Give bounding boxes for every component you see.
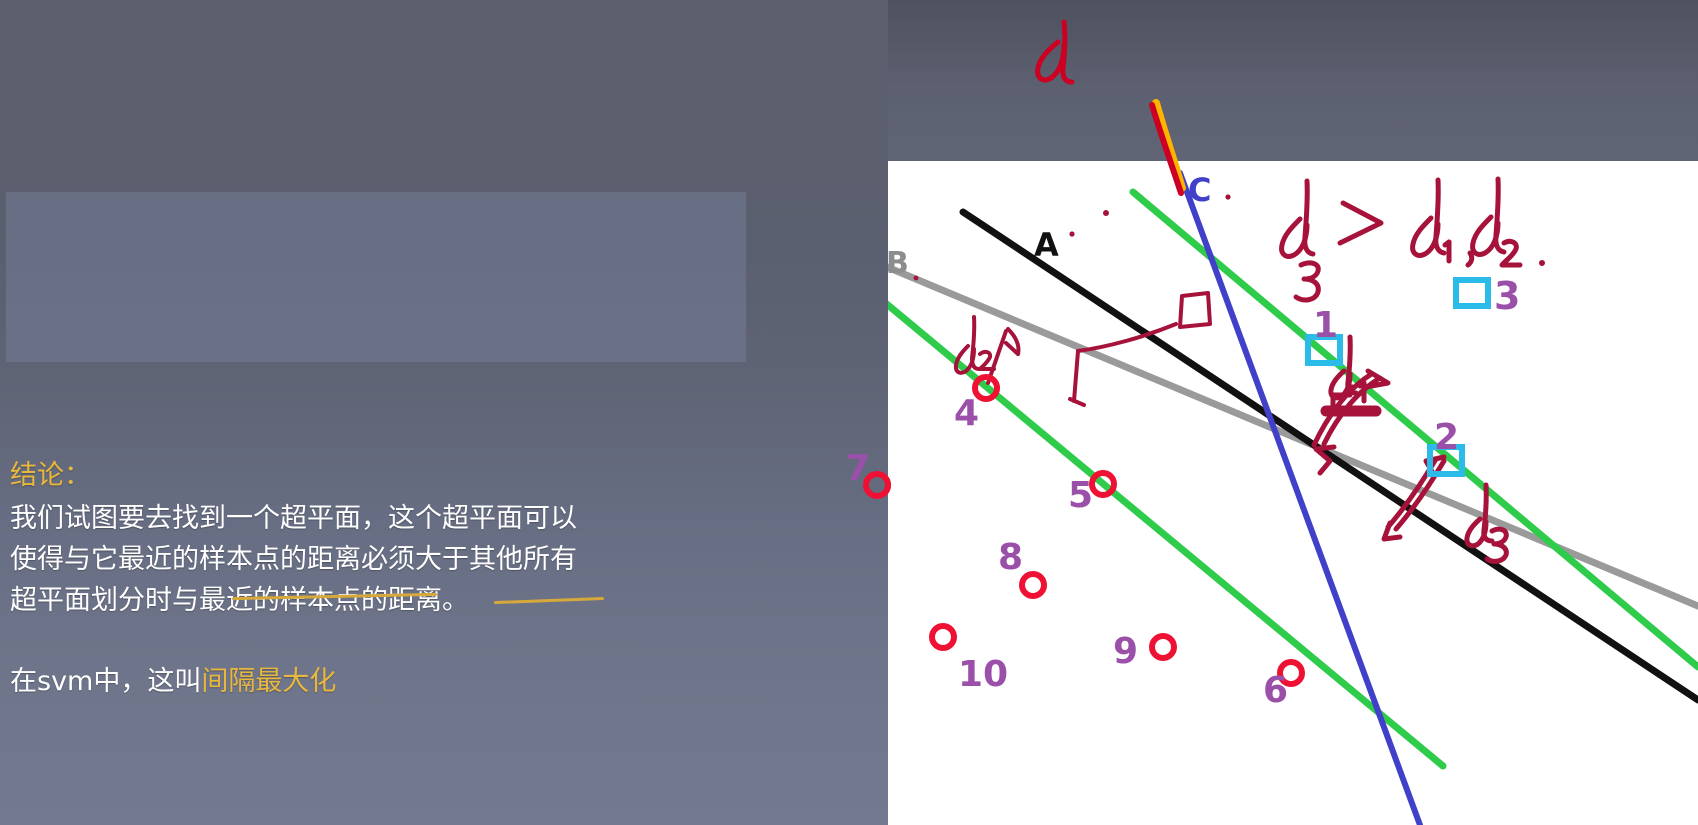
body-line-1: 我们试图要去找到一个超平面，这个超平面可以 <box>10 498 800 539</box>
underline-group: 我们试图要去找到一个超平面，这个超平面可以 使得与它最近的样本点的距离必须大于其… <box>10 498 800 621</box>
data-point-label-9: 9 <box>1113 631 1138 672</box>
whiteboard-drawing: B A C <box>888 161 1698 825</box>
whiteboard-panel: B A C <box>888 161 1698 825</box>
distance-annotation-d2 <box>956 317 1019 383</box>
final-line-prefix: 在svm中，这叫 <box>10 666 201 697</box>
empty-content-placeholder <box>6 192 746 362</box>
line-label-C-dot <box>1225 194 1230 199</box>
data-point-label-4: 4 <box>954 393 979 434</box>
data-point-9 <box>1152 636 1174 658</box>
conclusion-label: 结论： <box>10 455 800 496</box>
data-point-label-10: 10 <box>958 654 1008 695</box>
data-point-8 <box>1022 574 1044 596</box>
margin-boundary-upper <box>1133 192 1698 667</box>
support-label-2: 2 <box>1434 417 1459 458</box>
line-label-C: C <box>1188 171 1211 209</box>
data-point-group <box>888 377 1302 684</box>
line-label-B-dot <box>914 276 919 281</box>
legend-square-3 <box>1456 280 1488 306</box>
hyperplane-line-C <box>1180 173 1420 825</box>
line-label-A: A <box>1034 226 1059 264</box>
data-point-label-5: 5 <box>1068 475 1093 516</box>
line-label-A-dot <box>1069 231 1074 236</box>
body-line-2: 使得与它最近的样本点的距离必须大于其他所有 <box>10 539 800 580</box>
data-point-10 <box>932 626 954 648</box>
slide-background-top-strip <box>888 0 1698 161</box>
legend-label-3: 3 <box>1494 274 1520 318</box>
final-line: 在svm中，这叫间隔最大化 <box>10 661 800 702</box>
slide-text-block: 结论： 我们试图要去找到一个超平面，这个超平面可以 使得与它最近的样本点的距离必… <box>10 455 800 702</box>
support-label-1: 1 <box>1313 305 1338 346</box>
final-line-accent: 间隔最大化 <box>201 666 336 697</box>
data-point-label-6: 6 <box>1263 670 1288 711</box>
hand-drawn-box-annotation <box>1070 293 1210 405</box>
data-point-label-8: 8 <box>998 537 1023 578</box>
screen: 结论： 我们试图要去找到一个超平面，这个超平面可以 使得与它最近的样本点的距离必… <box>0 0 1698 825</box>
line-label-B: B <box>888 246 909 281</box>
body-line-3: 超平面划分时与最近的样本点的距离。 <box>10 580 800 621</box>
